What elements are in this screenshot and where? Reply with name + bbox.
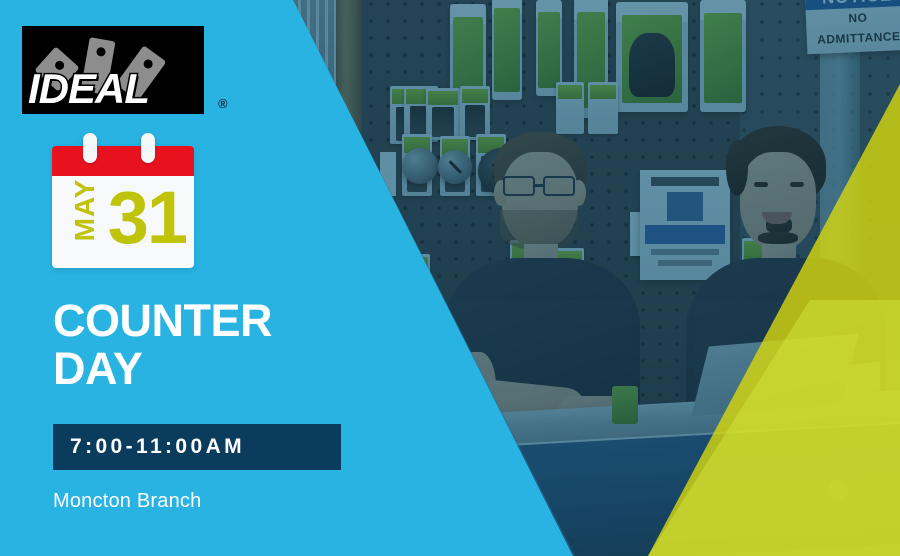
location-text: Moncton Branch (53, 490, 201, 513)
calendar-month: MAY (69, 171, 101, 249)
headline-line-1: COUNTER (53, 297, 383, 345)
time-text: 7:00-11:00AM (53, 435, 245, 459)
calendar-icon: MAY 31 (52, 141, 194, 268)
calendar-ring (83, 133, 97, 163)
content-column: IDEAL ® MAY 31 COUNTER DAY 7:00-11:00AM … (0, 0, 420, 556)
time-badge: 7:00-11:00AM (53, 424, 341, 470)
ideal-logo[interactable]: IDEAL ® (22, 26, 222, 116)
counter-day-poster: NOTICE NO ADMITTANCE EMPLOYEES (0, 0, 900, 556)
headline-line-2: DAY (53, 345, 383, 393)
page-title: COUNTER DAY (53, 297, 383, 393)
calendar-day: 31 (108, 172, 186, 264)
logo-wordmark: IDEAL (28, 66, 204, 112)
calendar-ring (141, 133, 155, 163)
registered-trademark-mark: ® (218, 96, 228, 111)
calendar-body: MAY 31 (52, 176, 194, 268)
